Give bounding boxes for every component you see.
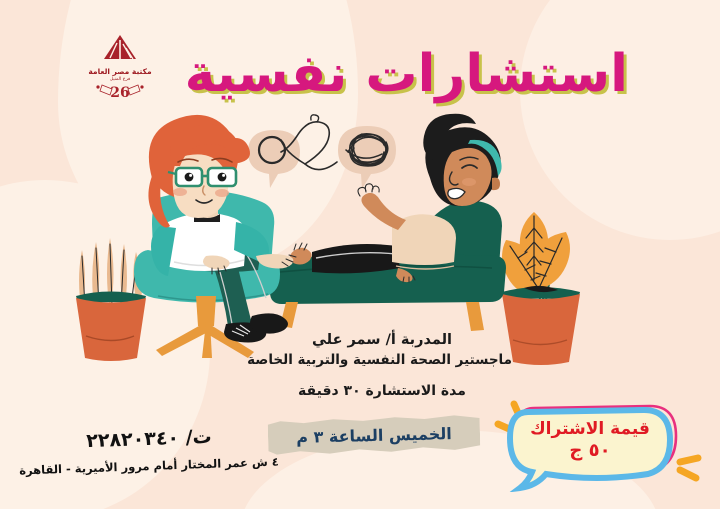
price-amount: ٥٠ ج [569, 440, 610, 463]
poster-root: مكتبة مصر العامة فرع المنيل 26 استشارات … [0, 0, 720, 509]
day-time-text: الخميس الساعة ٣ م [268, 412, 481, 457]
glasses-icon [168, 168, 236, 186]
price-label: قيمة الاشتراك [530, 419, 650, 440]
trainer-name: المدربة أ/ سمر علي [252, 330, 512, 351]
phone-number: ت/ ٢٢٨٢٠٣٤٠ [14, 423, 285, 454]
thought-bubbles [248, 115, 396, 189]
plant-right [502, 212, 580, 365]
price-badge: قيمة الاشتراك ٥٠ ج [484, 396, 706, 492]
plant-left [76, 238, 146, 361]
trainer-credential: ماجستير الصحة النفسية والتربية الخاصة [252, 351, 512, 371]
contact-info: ت/ ٢٢٨٢٠٣٤٠ ٤ ش عمر المختار أمام مرور ال… [14, 428, 284, 473]
price-text-group: قيمة الاشتراك ٥٠ ج [510, 410, 670, 472]
session-duration: مدة الاستشارة ٣٠ دقيقة [252, 383, 512, 399]
day-time-banner: الخميس الساعة ٣ م [268, 415, 480, 455]
consultation-info: المدربة أ/ سمر علي ماجستير الصحة النفسية… [252, 330, 512, 399]
